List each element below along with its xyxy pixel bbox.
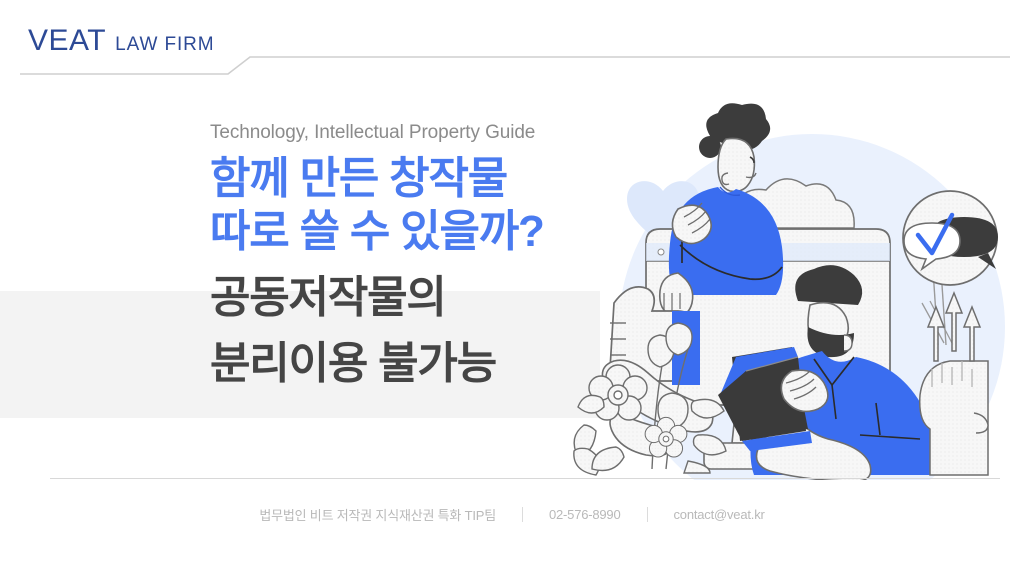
brand-logo[interactable]: VEAT LAW FIRM [28,26,215,56]
footer-team: 법무법인 비트 저작권 지식재산권 특화 TIP팀 [259,505,496,524]
slide-footer: 법무법인 비트 저작권 지식재산권 특화 TIP팀 02-576-8990 co… [0,505,1024,524]
head-profile-arrows-icon [920,293,988,475]
footer-phone[interactable]: 02-576-8990 [549,507,621,522]
footer-separator-1 [522,507,523,522]
slide-header: VEAT LAW FIRM [0,0,1024,78]
hero-headline-blue-line1: 함께 만든 창작물 [210,152,630,206]
footer-divider [50,478,1000,479]
footer-email[interactable]: contact@veat.kr [674,507,765,522]
brand-logo-sub: LAW FIRM [115,35,214,54]
hero-copy: Technology, Intellectual Property Guide … [210,122,630,390]
header-divider-line [0,55,1024,78]
hero-headline-dark-line2: 분리이용 불가능 [210,337,630,391]
hero-headline-blue-line2: 따로 쓸 수 있을까? [210,205,630,259]
woman-figure-icon [660,103,783,316]
brand-logo-main: VEAT [28,26,106,56]
hero-eyebrow: Technology, Intellectual Property Guide [210,122,630,145]
hero-headline-dark-line1: 공동저작물의 [210,271,630,325]
footer-separator-2 [647,507,648,522]
presentation-slide: { "brand": { "logo_main": "VEAT", "logo_… [0,0,1024,576]
